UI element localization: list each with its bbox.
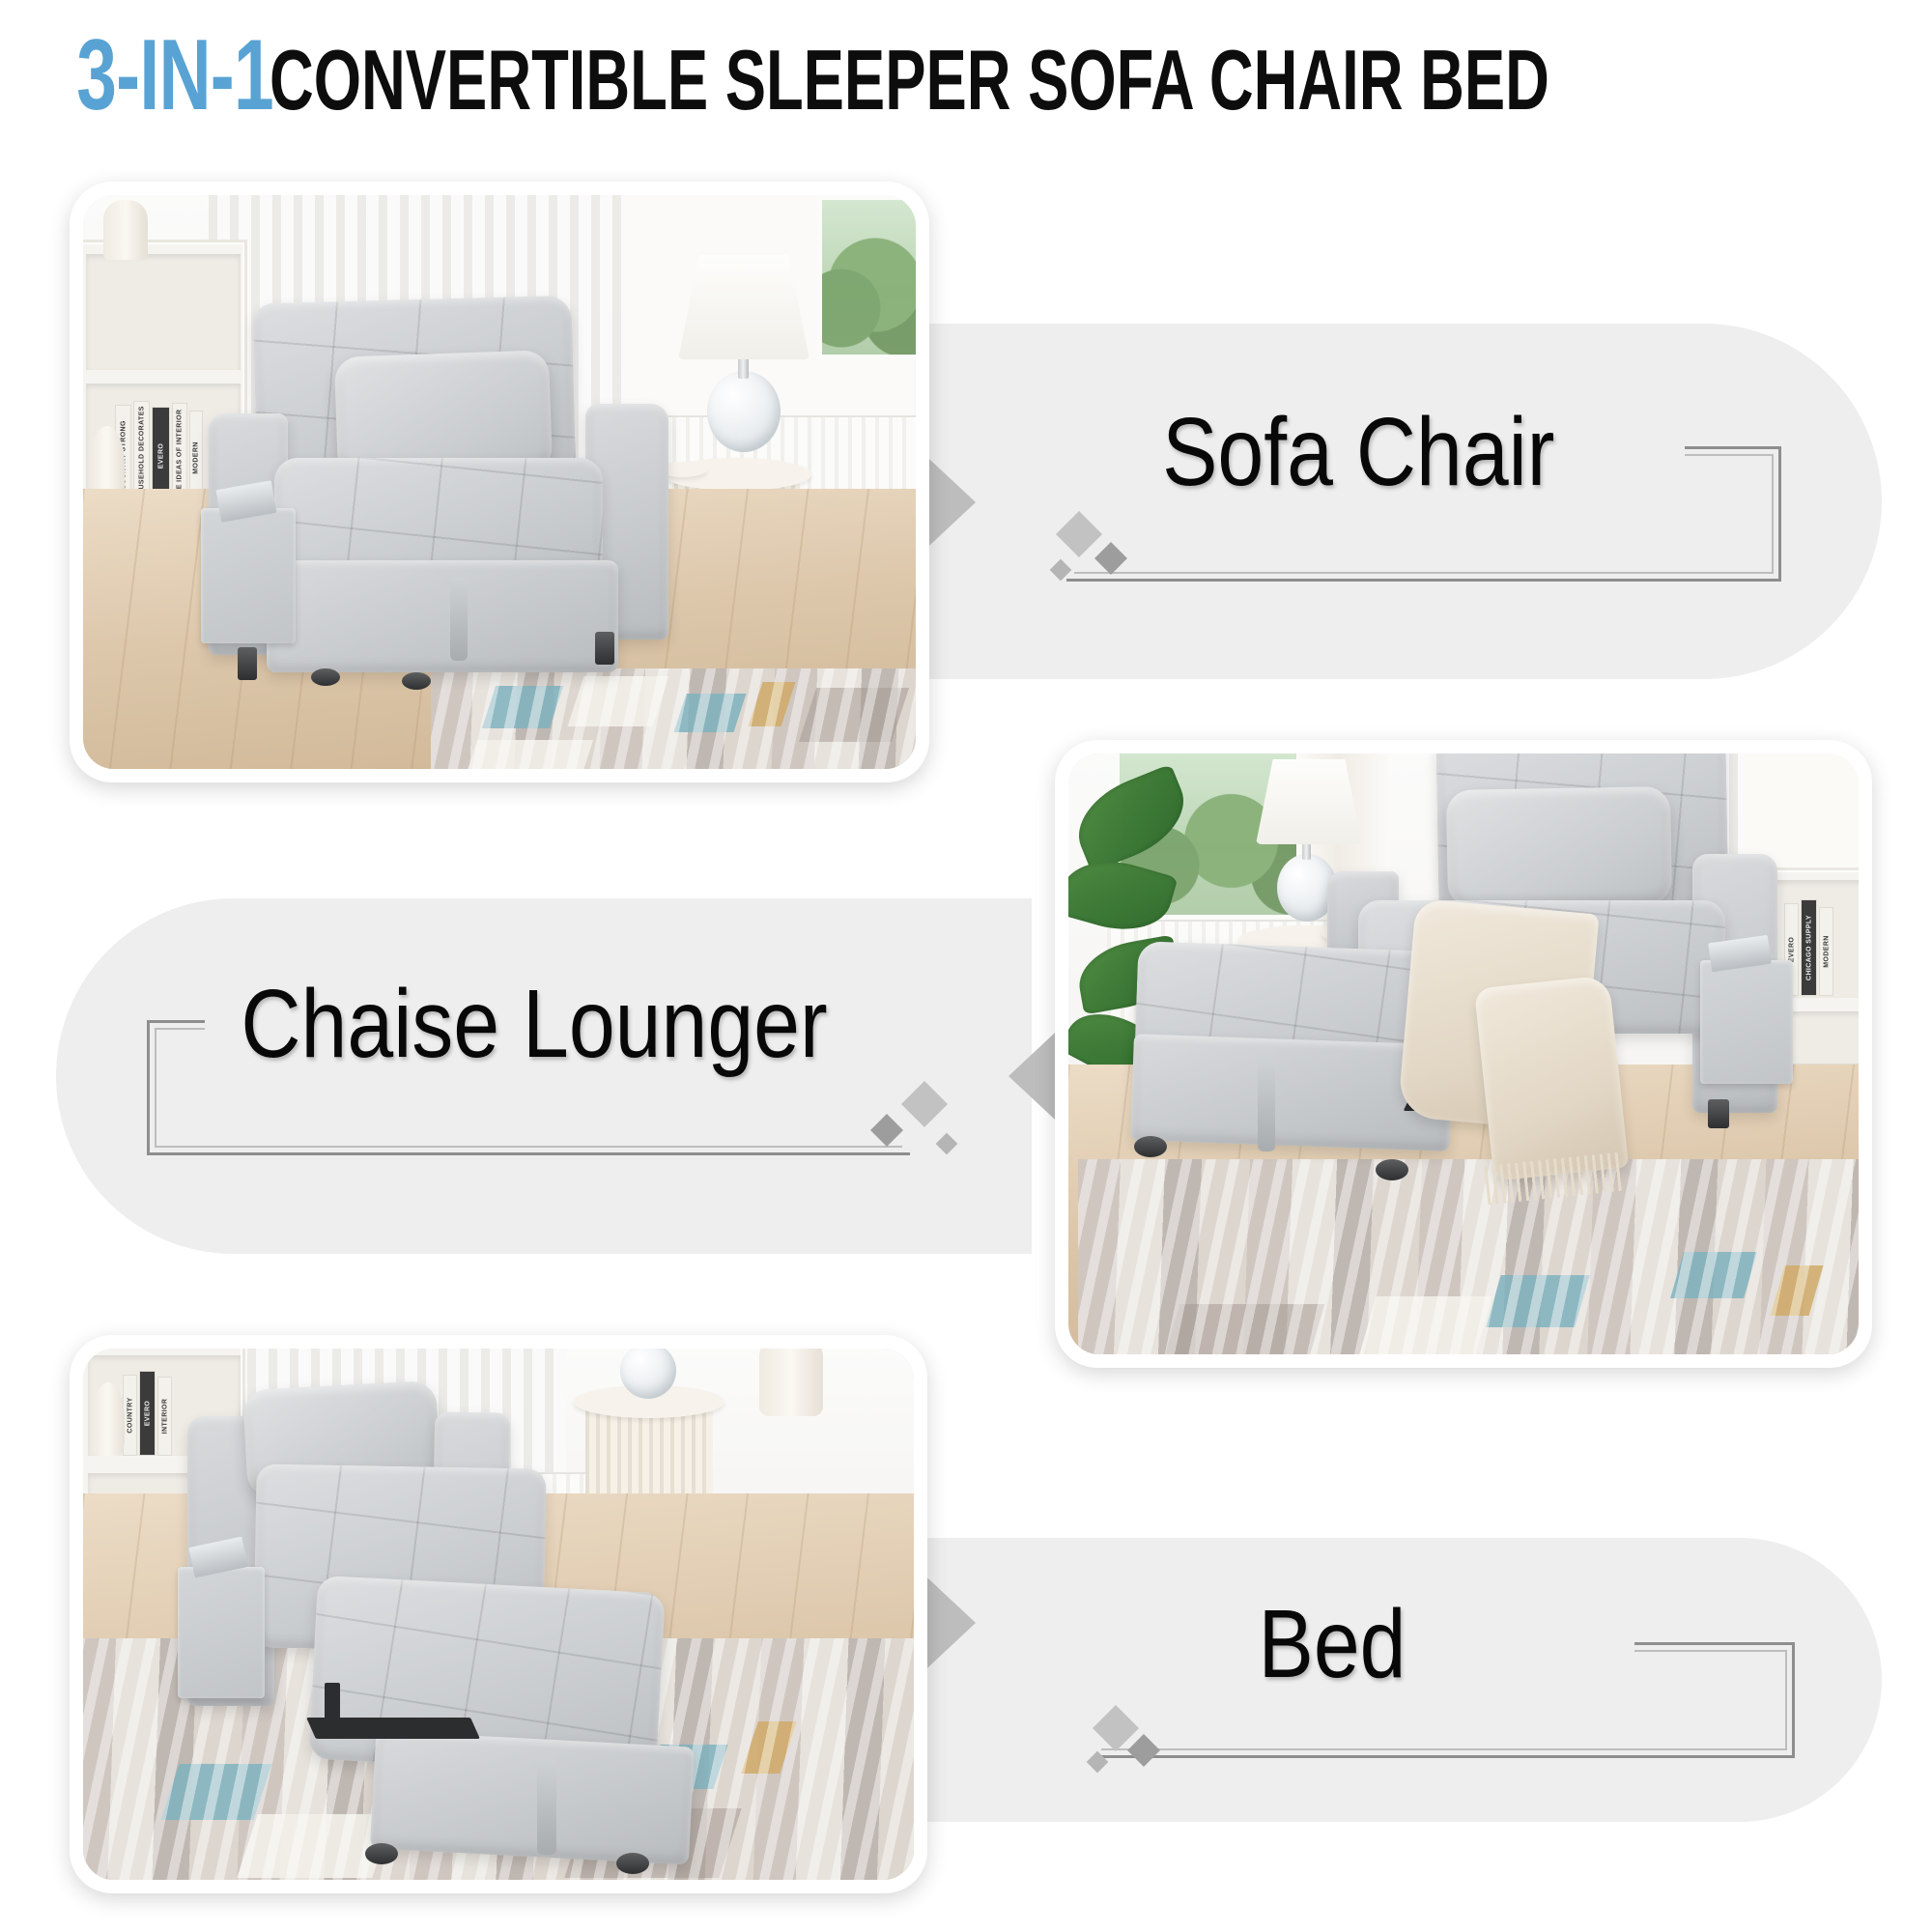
rug-tile bbox=[1670, 1252, 1757, 1298]
infographic-root: 3-IN-1CONVERTIBLE SLEEPER SOFA CHAIR BED… bbox=[0, 0, 1932, 1932]
rug-tile bbox=[1162, 1304, 1324, 1354]
rug-tile bbox=[1486, 1275, 1589, 1327]
vase-ornament bbox=[103, 200, 148, 260]
rug-tile bbox=[1771, 1265, 1824, 1316]
window-foliage bbox=[822, 200, 916, 355]
rug-tile bbox=[799, 688, 909, 742]
rug-tile bbox=[568, 676, 669, 726]
label-chaise-lounger: Chaise Lounger bbox=[241, 976, 827, 1072]
book-spine-text: MODERN bbox=[193, 441, 200, 474]
throw-blanket-drape bbox=[1474, 975, 1629, 1181]
caster-wheel bbox=[311, 668, 340, 686]
area-rug bbox=[431, 668, 916, 769]
vase-ornament bbox=[92, 1382, 125, 1456]
label-sofa-chair: Sofa Chair bbox=[1162, 404, 1554, 500]
caster-wheel bbox=[1134, 1136, 1167, 1157]
book-spine-text: CHICAGO SUPPLY bbox=[1805, 915, 1812, 980]
rug-tile bbox=[741, 1721, 797, 1774]
lamp-shade bbox=[678, 255, 810, 359]
page-title: 3-IN-1CONVERTIBLE SLEEPER SOFA CHAIR BED bbox=[0, 25, 1932, 126]
photo-card-chaise-lounger[interactable]: EVERO CHICAGO SUPPLY MODERN bbox=[1055, 740, 1872, 1368]
rug-tile bbox=[1359, 1296, 1492, 1354]
room-scene-sofa-chair: COUNTRY STRONG HOUSEHOLD DECORATES EVERO… bbox=[83, 195, 916, 769]
pull-strap bbox=[450, 578, 468, 661]
accent-pillow bbox=[1446, 786, 1672, 908]
rug-tile bbox=[161, 1764, 272, 1820]
rug-tile bbox=[749, 682, 796, 726]
book-spine-text: EVERO bbox=[144, 1401, 151, 1427]
book: CHICAGO SUPPLY bbox=[1801, 899, 1817, 996]
book-spine-text: EVERO bbox=[1788, 937, 1795, 963]
book-spine-text: EVERO bbox=[157, 443, 164, 469]
rug-tile bbox=[674, 694, 747, 732]
chair-front-base bbox=[267, 560, 618, 672]
lamp-globe bbox=[707, 371, 781, 452]
book: COUNTRY bbox=[123, 1375, 137, 1456]
photo-card-bed[interactable]: COUNTRY EVERO INTERIOR bbox=[70, 1335, 927, 1893]
chair-leg bbox=[1708, 1099, 1729, 1128]
caster-wheel bbox=[616, 1853, 649, 1874]
book-spine-text: HOUSEHOLD DECORATES bbox=[138, 406, 145, 500]
book-spine-text: COUNTRY bbox=[127, 1397, 133, 1433]
side-storage-pocket bbox=[178, 1567, 265, 1698]
label-bed: Bed bbox=[1258, 1596, 1406, 1692]
title-highlight: 3-IN-1 bbox=[76, 25, 273, 126]
photo-chaise-lounger: EVERO CHICAGO SUPPLY MODERN bbox=[1068, 753, 1859, 1354]
caster-wheel bbox=[1376, 1159, 1408, 1180]
photo-card-sofa-chair[interactable]: COUNTRY STRONG HOUSEHOLD DECORATES EVERO… bbox=[70, 182, 929, 782]
book-spine-text: INTERIOR bbox=[161, 1399, 168, 1435]
area-rug bbox=[1078, 1159, 1859, 1354]
vase-ornament bbox=[759, 1349, 823, 1416]
caster-wheel bbox=[402, 672, 431, 690]
pull-strap bbox=[537, 1758, 556, 1855]
chair-leg bbox=[238, 647, 257, 680]
shelf-cell bbox=[86, 254, 241, 370]
title-rest: CONVERTIBLE SLEEPER SOFA CHAIR BED bbox=[270, 38, 1549, 123]
room-scene-bed: COUNTRY EVERO INTERIOR bbox=[83, 1349, 914, 1880]
book-spine-text: THE IDEAS OF INTERIOR bbox=[177, 410, 184, 499]
book: MODERN bbox=[1819, 907, 1833, 996]
side-storage-pocket bbox=[201, 508, 296, 643]
window bbox=[817, 195, 916, 359]
book: EVERO bbox=[139, 1371, 156, 1456]
lamp-shade bbox=[1256, 759, 1362, 844]
pull-strap bbox=[1258, 1059, 1275, 1151]
bed-footboard-base bbox=[370, 1730, 695, 1864]
caster-wheel bbox=[365, 1843, 398, 1864]
book: INTERIOR bbox=[157, 1377, 172, 1456]
photo-sofa-chair: COUNTRY STRONG HOUSEHOLD DECORATES EVERO… bbox=[83, 195, 916, 769]
book-spine-text: MODERN bbox=[1823, 935, 1830, 968]
rug-tile bbox=[482, 686, 563, 728]
rug-tile bbox=[462, 740, 593, 769]
side-storage-pocket bbox=[1700, 960, 1793, 1084]
photo-bed: COUNTRY EVERO INTERIOR bbox=[83, 1349, 914, 1880]
room-scene-chaise-lounger: EVERO CHICAGO SUPPLY MODERN bbox=[1068, 753, 1859, 1354]
chair-leg bbox=[595, 632, 614, 665]
support-frame-bar bbox=[325, 1683, 340, 1737]
